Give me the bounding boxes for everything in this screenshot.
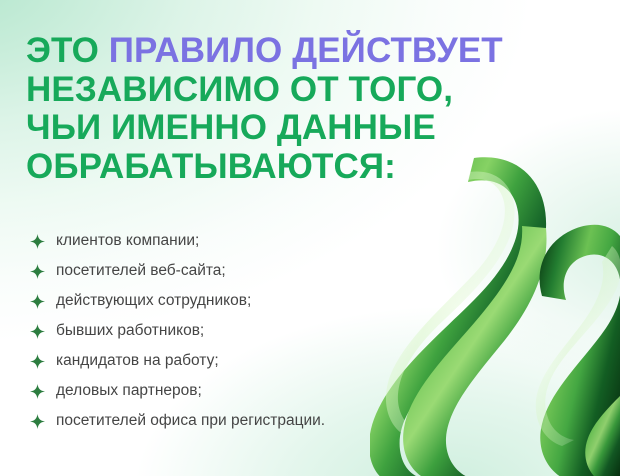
headline-line-3: ЧЬИ ИМЕННО ДАННЫЕ [26,109,586,148]
bullet-list: клиентов компании; посетителей веб-сайта… [30,226,430,436]
four-point-star-icon [30,234,45,249]
list-item: кандидатов на работу; [30,346,430,376]
four-point-star-icon [30,324,45,339]
four-point-star-icon [30,384,45,399]
list-item-label: деловых партнеров; [56,382,202,400]
headline-line-4: ОБРАБАТЫВАЮТСЯ: [26,148,586,187]
headline-line-2-segment-1: НЕЗАВИСИМО ОТ ТОГО, [26,70,453,109]
list-item-label: посетителей веб-сайта; [56,262,226,280]
headline-line-3-segment-1: ЧЬИ ИМЕННО ДАННЫЕ [26,108,436,147]
list-item-label: клиентов компании; [56,232,199,250]
list-item: посетителей веб-сайта; [30,256,430,286]
headline-line-1: ЭТО ПРАВИЛО ДЕЙСТВУЕТ [26,32,586,71]
list-item-label: действующих сотрудников; [56,292,251,310]
list-item-label: посетителей офиса при регистрации. [56,412,325,430]
headline: ЭТО ПРАВИЛО ДЕЙСТВУЕТ НЕЗАВИСИМО ОТ ТОГО… [26,32,586,186]
headline-line-1-segment-1: ЭТО [26,31,109,70]
headline-line-1-segment-2: ПРАВИЛО ДЕЙСТВУЕТ [109,31,503,70]
list-item: бывших работников; [30,316,430,346]
headline-line-4-segment-1: ОБРАБАТЫВАЮТСЯ: [26,147,396,186]
four-point-star-icon [30,264,45,279]
four-point-star-icon [30,414,45,429]
four-point-star-icon [30,294,45,309]
four-point-star-icon [30,354,45,369]
list-item-label: кандидатов на работу; [56,352,219,370]
list-item: действующих сотрудников; [30,286,430,316]
list-item: посетителей офиса при регистрации. [30,406,430,436]
list-item: деловых партнеров; [30,376,430,406]
headline-line-2: НЕЗАВИСИМО ОТ ТОГО, [26,71,586,110]
list-item: клиентов компании; [30,226,430,256]
slide-canvas: ЭТО ПРАВИЛО ДЕЙСТВУЕТ НЕЗАВИСИМО ОТ ТОГО… [0,0,620,476]
list-item-label: бывших работников; [56,322,204,340]
